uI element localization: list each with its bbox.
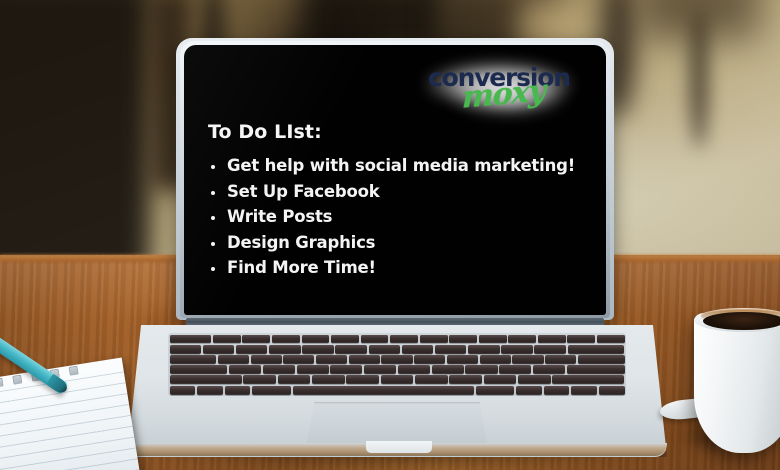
- key[interactable]: [302, 335, 330, 344]
- key[interactable]: [449, 335, 477, 344]
- keyboard-row-modifiers: [170, 386, 625, 395]
- key[interactable]: [414, 355, 445, 364]
- key[interactable]: [435, 345, 467, 354]
- key[interactable]: [398, 365, 430, 374]
- key[interactable]: [534, 345, 566, 354]
- key[interactable]: [316, 355, 347, 364]
- key[interactable]: [269, 345, 301, 354]
- key[interactable]: [449, 375, 482, 384]
- todo-list-item: Get help with social media marketing!: [208, 156, 596, 175]
- key[interactable]: [243, 375, 276, 384]
- key-arrow-updown[interactable]: [571, 386, 597, 395]
- coffee-liquid: [703, 312, 780, 330]
- key-option-right[interactable]: [516, 386, 542, 395]
- key-fn[interactable]: [170, 386, 196, 395]
- key[interactable]: [512, 355, 543, 364]
- spiral-coil: [0, 377, 4, 387]
- key[interactable]: [501, 345, 533, 354]
- key[interactable]: [170, 335, 212, 344]
- key[interactable]: [349, 355, 380, 364]
- key[interactable]: [251, 355, 282, 364]
- spiral-coil: [12, 374, 22, 384]
- key[interactable]: [312, 375, 345, 384]
- todo-list: Get help with social media marketing! Se…: [208, 156, 596, 277]
- key[interactable]: [597, 335, 625, 344]
- key[interactable]: [499, 365, 531, 374]
- key[interactable]: [364, 365, 396, 374]
- key-caps-lock[interactable]: [170, 365, 228, 374]
- keyboard-row-numbers: [170, 345, 625, 354]
- key-delete[interactable]: [568, 345, 625, 354]
- key-space[interactable]: [293, 386, 474, 395]
- todo-list-item: Find More Time!: [208, 258, 596, 277]
- key[interactable]: [465, 365, 497, 374]
- key-shift[interactable]: [170, 375, 242, 384]
- photo-scene: conversion moxy To Do LIst: Get help wit…: [0, 0, 780, 470]
- key[interactable]: [278, 375, 311, 384]
- keyboard-row-qwerty: [170, 355, 625, 364]
- key[interactable]: [335, 345, 367, 354]
- keyboard-row-function: [170, 335, 625, 344]
- key-return[interactable]: [567, 365, 625, 374]
- key[interactable]: [518, 375, 551, 384]
- key-arrow-right[interactable]: [599, 386, 625, 395]
- todo-content: To Do LIst: Get help with social media m…: [208, 121, 596, 284]
- key[interactable]: [272, 335, 300, 344]
- key-arrow-left[interactable]: [544, 386, 570, 395]
- key[interactable]: [508, 335, 536, 344]
- key[interactable]: [578, 355, 625, 364]
- key[interactable]: [330, 365, 362, 374]
- key[interactable]: [533, 365, 565, 374]
- key[interactable]: [432, 365, 464, 374]
- coffee-cup: [694, 313, 780, 453]
- keyboard-row-bottom: [170, 375, 625, 384]
- key[interactable]: [447, 355, 478, 364]
- key[interactable]: [361, 335, 389, 344]
- key[interactable]: [213, 335, 241, 344]
- todo-list-item: Write Posts: [208, 207, 596, 226]
- key[interactable]: [203, 345, 235, 354]
- key[interactable]: [229, 365, 261, 374]
- key[interactable]: [218, 355, 249, 364]
- keyboard-keys: [168, 333, 626, 396]
- laptop-screen[interactable]: conversion moxy To Do LIst: Get help wit…: [184, 45, 606, 315]
- key[interactable]: [480, 355, 511, 364]
- key[interactable]: [302, 345, 334, 354]
- key[interactable]: [415, 375, 448, 384]
- key[interactable]: [346, 375, 379, 384]
- key-control[interactable]: [197, 386, 223, 395]
- spiral-coil: [68, 366, 78, 376]
- key[interactable]: [468, 345, 500, 354]
- key-command-right[interactable]: [476, 386, 515, 395]
- laptop-front-notch: [366, 441, 432, 453]
- key-command[interactable]: [252, 386, 291, 395]
- keyboard-row-home: [170, 365, 625, 374]
- key[interactable]: [170, 345, 202, 354]
- notebook-ruled-lines: [0, 371, 142, 470]
- conversion-moxy-logo: conversion moxy: [412, 53, 584, 115]
- key[interactable]: [369, 345, 401, 354]
- logo-script-mark: moxy: [462, 76, 546, 113]
- key[interactable]: [567, 335, 595, 344]
- key[interactable]: [236, 345, 268, 354]
- key[interactable]: [381, 375, 414, 384]
- keyboard[interactable]: [168, 333, 626, 396]
- key[interactable]: [538, 335, 566, 344]
- todo-list-item: Design Graphics: [208, 233, 596, 252]
- key[interactable]: [545, 355, 576, 364]
- key-shift-right[interactable]: [552, 375, 624, 384]
- todo-list-item: Set Up Facebook: [208, 182, 596, 201]
- key[interactable]: [381, 355, 412, 364]
- key[interactable]: [420, 335, 448, 344]
- key[interactable]: [402, 345, 434, 354]
- key[interactable]: [484, 375, 517, 384]
- key[interactable]: [263, 365, 295, 374]
- key[interactable]: [297, 365, 329, 374]
- notebook: [0, 358, 142, 470]
- key[interactable]: [331, 335, 359, 344]
- trackpad[interactable]: [307, 402, 487, 444]
- key[interactable]: [242, 335, 270, 344]
- key[interactable]: [479, 335, 507, 344]
- key[interactable]: [390, 335, 418, 344]
- key-tab[interactable]: [170, 355, 217, 364]
- key-option[interactable]: [225, 386, 251, 395]
- key[interactable]: [283, 355, 314, 364]
- todo-title: To Do LIst:: [208, 121, 596, 143]
